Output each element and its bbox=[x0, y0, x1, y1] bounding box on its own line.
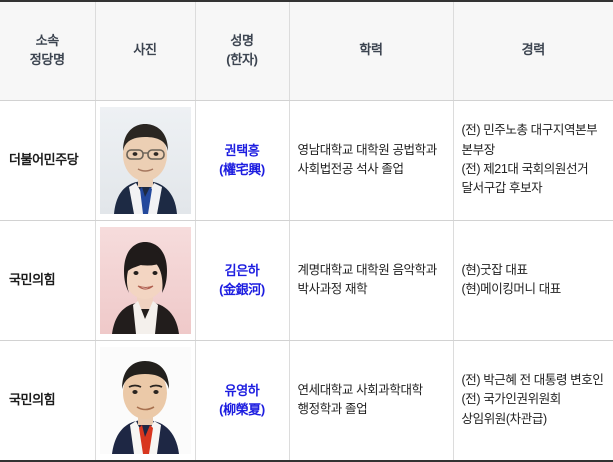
career-line: (전) 제21대 국회의원선거 bbox=[462, 160, 606, 179]
candidate-name-hanja: (金銀河) bbox=[197, 280, 288, 300]
career-line: 달서구갑 후보자 bbox=[462, 179, 606, 198]
education-line: 연세대학교 사회과학대학 bbox=[298, 381, 445, 400]
cell-career: (전) 민주노총 대구지역본부 본부장 (전) 제21대 국회의원선거 달서구갑… bbox=[453, 100, 613, 220]
cell-name: 김은하 (金銀河) bbox=[195, 220, 289, 340]
column-header-photo: 사진 bbox=[95, 1, 195, 100]
column-header-career: 경력 bbox=[453, 1, 613, 100]
cell-photo bbox=[95, 100, 195, 220]
cell-name: 권택흥 (權宅興) bbox=[195, 100, 289, 220]
header-row: 소속 정당명 사진 성명 (한자) 학력 경력 bbox=[0, 1, 613, 100]
education-line: 행정학과 졸업 bbox=[298, 400, 445, 419]
cell-name: 유영하 (柳榮夏) bbox=[195, 340, 289, 461]
candidate-photo bbox=[100, 107, 191, 214]
cell-education: 계명대학교 대학원 음악학과 박사과정 재학 bbox=[289, 220, 453, 340]
table-row: 더불어민주당 bbox=[0, 100, 613, 220]
education-line: 사회법전공 석사 졸업 bbox=[298, 160, 445, 179]
career-line: (현)메이킹머니 대표 bbox=[462, 280, 606, 299]
cell-party: 더불어민주당 bbox=[0, 100, 95, 220]
education-line: 영남대학교 대학원 공법학과 bbox=[298, 141, 445, 160]
column-header-name: 성명 (한자) bbox=[195, 1, 289, 100]
cell-career: (현)굿잡 대표 (현)메이킹머니 대표 bbox=[453, 220, 613, 340]
header-label-line1: 사진 bbox=[133, 42, 156, 57]
career-line: (전) 국가인권위원회 bbox=[462, 390, 606, 409]
candidate-name-hanja: (權宅興) bbox=[197, 160, 288, 180]
cell-education: 영남대학교 대학원 공법학과 사회법전공 석사 졸업 bbox=[289, 100, 453, 220]
table-header: 소속 정당명 사진 성명 (한자) 학력 경력 bbox=[0, 1, 613, 100]
column-header-party: 소속 정당명 bbox=[0, 1, 95, 100]
column-header-education: 학력 bbox=[289, 1, 453, 100]
candidate-name-hanja: (柳榮夏) bbox=[197, 400, 288, 420]
candidate-name-korean: 권택흥 bbox=[225, 143, 260, 158]
header-label-line1: 성명 bbox=[230, 33, 253, 48]
career-line: (현)굿잡 대표 bbox=[462, 261, 606, 280]
table-row: 국민의힘 bbox=[0, 340, 613, 461]
cell-photo bbox=[95, 220, 195, 340]
career-line: (전) 박근혜 전 대통령 변호인 bbox=[462, 371, 606, 390]
header-label-line1: 소속 bbox=[36, 33, 59, 48]
header-label-line1: 경력 bbox=[522, 42, 545, 57]
education-line: 계명대학교 대학원 음악학과 bbox=[298, 261, 445, 280]
cell-party: 국민의힘 bbox=[0, 340, 95, 461]
table-body: 더불어민주당 bbox=[0, 100, 613, 461]
candidate-name-korean: 유영하 bbox=[225, 383, 260, 398]
cell-party: 국민의힘 bbox=[0, 220, 95, 340]
career-line: 상임위원(차관급) bbox=[462, 410, 606, 429]
candidate-table: 소속 정당명 사진 성명 (한자) 학력 경력 더불어민주당 bbox=[0, 0, 613, 462]
candidate-photo bbox=[100, 347, 191, 454]
cell-career: (전) 박근혜 전 대통령 변호인 (전) 국가인권위원회 상임위원(차관급) bbox=[453, 340, 613, 461]
cell-education: 연세대학교 사회과학대학 행정학과 졸업 bbox=[289, 340, 453, 461]
candidate-photo bbox=[100, 227, 191, 334]
table-row: 국민의힘 bbox=[0, 220, 613, 340]
cell-photo bbox=[95, 340, 195, 461]
header-label-line2: 정당명 bbox=[30, 52, 65, 67]
career-line: 본부장 bbox=[462, 141, 606, 160]
header-label-line2: (한자) bbox=[226, 52, 257, 67]
career-line: (전) 민주노총 대구지역본부 bbox=[462, 121, 606, 140]
candidate-name-korean: 김은하 bbox=[225, 263, 260, 278]
header-label-line1: 학력 bbox=[359, 42, 382, 57]
education-line: 박사과정 재학 bbox=[298, 280, 445, 299]
